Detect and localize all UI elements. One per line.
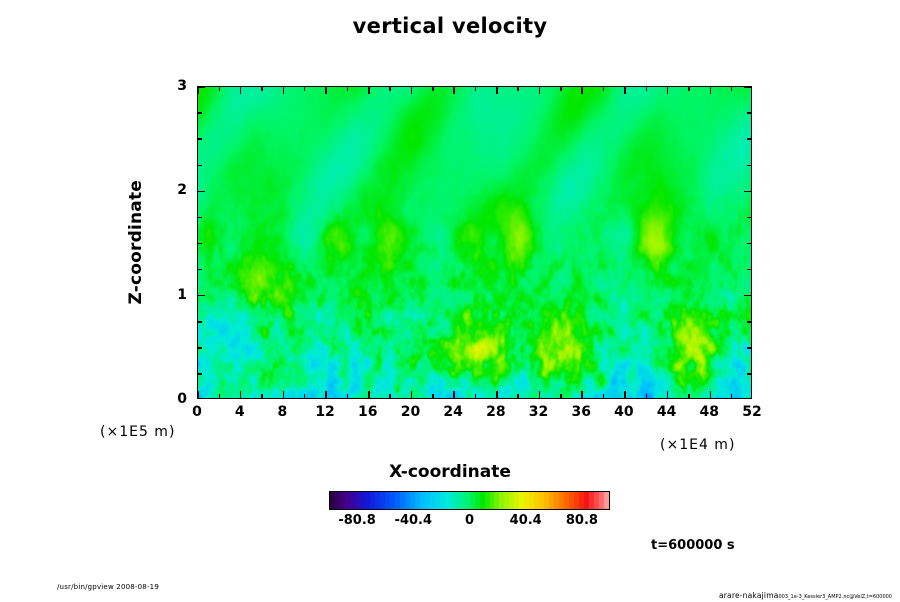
axis-tick-minor (219, 87, 221, 91)
axis-tick (325, 87, 327, 94)
x-tick-label: 16 (358, 404, 377, 420)
axis-tick-minor (198, 112, 202, 114)
axis-tick-minor (432, 394, 434, 398)
axis-tick (197, 87, 199, 94)
axis-tick (368, 391, 370, 398)
axis-tick (240, 87, 242, 94)
time-annotation: t=600000 s (651, 538, 735, 553)
y-axis-tick-labels: 0123 (160, 86, 187, 399)
axis-tick-minor (747, 217, 751, 219)
footer-right: arare-nakajima003_1e-3_Kessler3_AMP2.nc@… (719, 583, 892, 602)
axis-tick-minor (304, 394, 306, 398)
x-tick-label: 48 (700, 404, 719, 420)
axis-tick-minor (747, 138, 751, 140)
y-tick-label: 3 (177, 78, 187, 94)
axis-tick (453, 87, 455, 94)
axis-tick (744, 86, 751, 88)
colorbar-tick-label: -80.8 (338, 513, 375, 528)
axis-tick-minor (747, 321, 751, 323)
axis-tick (240, 391, 242, 398)
axis-tick (325, 391, 327, 398)
colorbar (329, 491, 610, 510)
axis-tick (667, 391, 669, 398)
axis-tick (744, 191, 751, 193)
axis-tick (198, 191, 205, 193)
x-tick-label: 28 (486, 404, 505, 420)
axis-tick (667, 87, 669, 94)
x-tick-label: 52 (742, 404, 761, 420)
axis-tick-minor (198, 373, 202, 375)
footer-right-detail: 003_1e-3_Kessler3_AMP2.nc@VelZ,t=600000 (779, 594, 893, 600)
colorbar-tick-label: 80.8 (566, 513, 598, 528)
axis-tick-minor (560, 394, 562, 398)
axis-tick-minor (517, 394, 519, 398)
x-tick-label: 36 (571, 404, 590, 420)
axis-tick-minor (731, 87, 733, 91)
axis-tick (411, 391, 413, 398)
colorbar-gradient (329, 491, 610, 510)
axis-tick (710, 87, 712, 94)
axis-tick (496, 391, 498, 398)
axis-tick-minor (688, 87, 690, 91)
axis-tick (368, 87, 370, 94)
axis-tick-minor (198, 138, 202, 140)
y-tick-label: 0 (177, 391, 187, 407)
axis-tick-minor (261, 394, 263, 398)
x-tick-label: 44 (657, 404, 676, 420)
axis-tick-minor (261, 87, 263, 91)
x-tick-label: 20 (401, 404, 420, 420)
x-tick-label: 32 (529, 404, 548, 420)
axis-tick (411, 87, 413, 94)
axis-tick-minor (198, 321, 202, 323)
y-axis-title: Z-coordinate (126, 180, 148, 305)
axis-tick (197, 391, 199, 398)
axis-tick-minor (347, 394, 349, 398)
x-axis-title: X-coordinate (0, 462, 900, 482)
axis-tick-minor (517, 87, 519, 91)
axis-tick-minor (646, 394, 648, 398)
axis-tick-minor (198, 243, 202, 245)
colorbar-tick-label: 0 (465, 513, 474, 528)
axis-tick-minor (432, 87, 434, 91)
axis-tick (624, 391, 626, 398)
x-tick-label: 12 (315, 404, 334, 420)
axis-tick-minor (747, 165, 751, 167)
x-tick-label: 40 (614, 404, 633, 420)
z-axis-unit-label: (×1E5 m) (100, 424, 175, 440)
x-tick-label: 4 (235, 404, 245, 420)
axis-tick (496, 87, 498, 94)
axis-tick-minor (389, 87, 391, 91)
axis-tick-minor (560, 87, 562, 91)
axis-tick (283, 391, 285, 398)
axis-tick-minor (731, 394, 733, 398)
axis-tick (539, 87, 541, 94)
x-tick-label: 0 (192, 404, 202, 420)
axis-tick-minor (475, 87, 477, 91)
x-tick-label: 8 (278, 404, 288, 420)
colorbar-tick-label: -40.4 (395, 513, 432, 528)
axis-tick (198, 295, 205, 297)
colorbar-tick-labels: -80.8-40.4040.480.8 (329, 513, 610, 533)
axis-tick (453, 391, 455, 398)
axis-tick-minor (747, 112, 751, 114)
axis-tick-minor (198, 269, 202, 271)
axis-tick-minor (219, 394, 221, 398)
axis-tick-minor (688, 394, 690, 398)
heatmap-field (198, 87, 751, 398)
axis-tick-minor (389, 394, 391, 398)
colorbar-tick-label: 40.4 (510, 513, 542, 528)
axis-tick (581, 87, 583, 94)
axis-tick-minor (747, 269, 751, 271)
axis-tick (198, 86, 205, 88)
axis-tick (581, 391, 583, 398)
axis-tick (624, 87, 626, 94)
axis-tick-minor (747, 373, 751, 375)
footer-left: /usr/bin/gpview 2008-08-19 (57, 583, 159, 591)
axis-tick-minor (603, 394, 605, 398)
footer-right-main: arare-nakajima (719, 591, 779, 600)
axis-tick (710, 391, 712, 398)
y-tick-label: 2 (177, 182, 187, 198)
axis-tick-minor (475, 394, 477, 398)
axis-tick-minor (747, 347, 751, 349)
axis-tick-minor (603, 87, 605, 91)
x-tick-label: 24 (443, 404, 462, 420)
axis-tick-minor (198, 217, 202, 219)
axis-tick-minor (198, 347, 202, 349)
axis-tick-minor (646, 87, 648, 91)
axis-tick (539, 391, 541, 398)
x-axis-unit-label: (×1E4 m) (660, 437, 735, 453)
plot-area (197, 86, 752, 399)
colorbar-segment (604, 492, 609, 509)
axis-tick-minor (747, 243, 751, 245)
page-title: vertical velocity (0, 14, 900, 38)
axis-tick (744, 295, 751, 297)
axis-tick-minor (304, 87, 306, 91)
axis-tick-minor (198, 165, 202, 167)
y-tick-label: 1 (177, 287, 187, 303)
axis-tick-minor (347, 87, 349, 91)
axis-tick (283, 87, 285, 94)
